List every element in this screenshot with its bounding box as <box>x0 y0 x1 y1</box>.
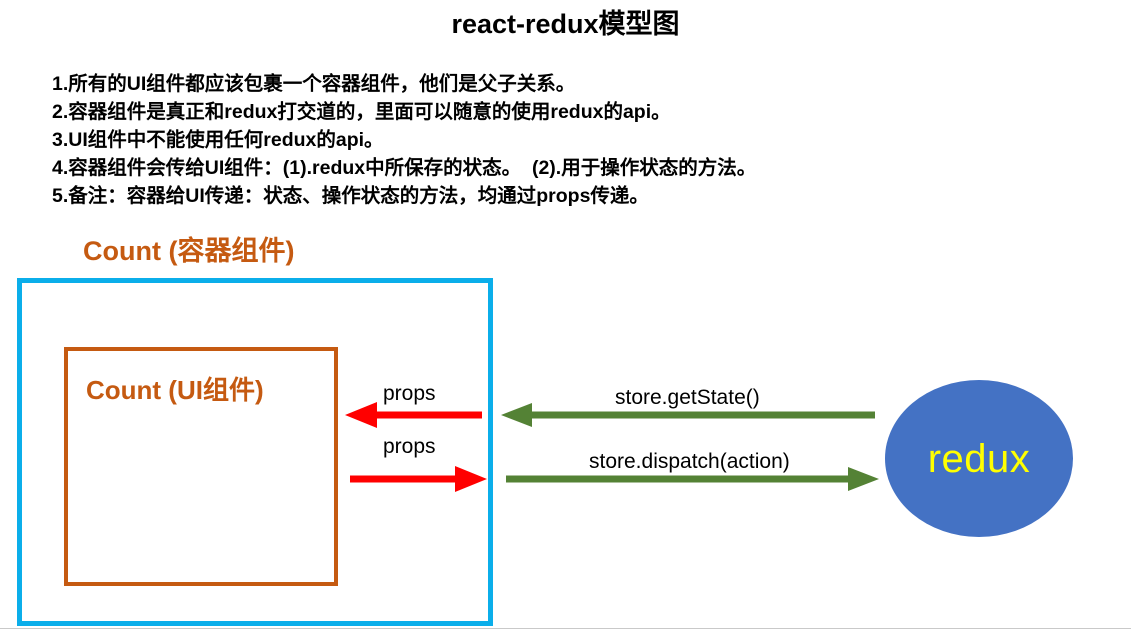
note-line-2: 2.容器组件是真正和redux打交道的，里面可以随意的使用redux的api。 <box>52 98 1092 126</box>
ui-component-label: Count (UI组件) <box>86 370 264 407</box>
notes-list: 1.所有的UI组件都应该包裹一个容器组件，他们是父子关系。 2.容器组件是真正和… <box>52 70 1092 210</box>
note-line-3: 3.UI组件中不能使用任何redux的api。 <box>52 126 1092 154</box>
arrow-label-props-top: props <box>383 382 436 406</box>
arrow-label-dispatch: store.dispatch(action) <box>589 450 790 474</box>
arrow-label-get-state: store.getState() <box>615 386 760 410</box>
note-line-5: 5.备注：容器给UI传递：状态、操作状态的方法，均通过props传递。 <box>52 182 1092 210</box>
diagram-page: react-redux模型图 1.所有的UI组件都应该包裹一个容器组件，他们是父… <box>0 0 1131 635</box>
redux-store-ellipse: redux <box>885 380 1073 537</box>
arrow-label-props-bottom: props <box>383 435 436 459</box>
page-title: react-redux模型图 <box>0 2 1131 41</box>
page-bottom-rule <box>0 628 1131 629</box>
container-component-heading: Count (容器组件) <box>83 229 294 268</box>
note-line-4: 4.容器组件会传给UI组件：(1).redux中所保存的状态。 (2).用于操作… <box>52 154 1092 182</box>
redux-store-label: redux <box>928 439 1031 479</box>
note-line-1: 1.所有的UI组件都应该包裹一个容器组件，他们是父子关系。 <box>52 70 1092 98</box>
